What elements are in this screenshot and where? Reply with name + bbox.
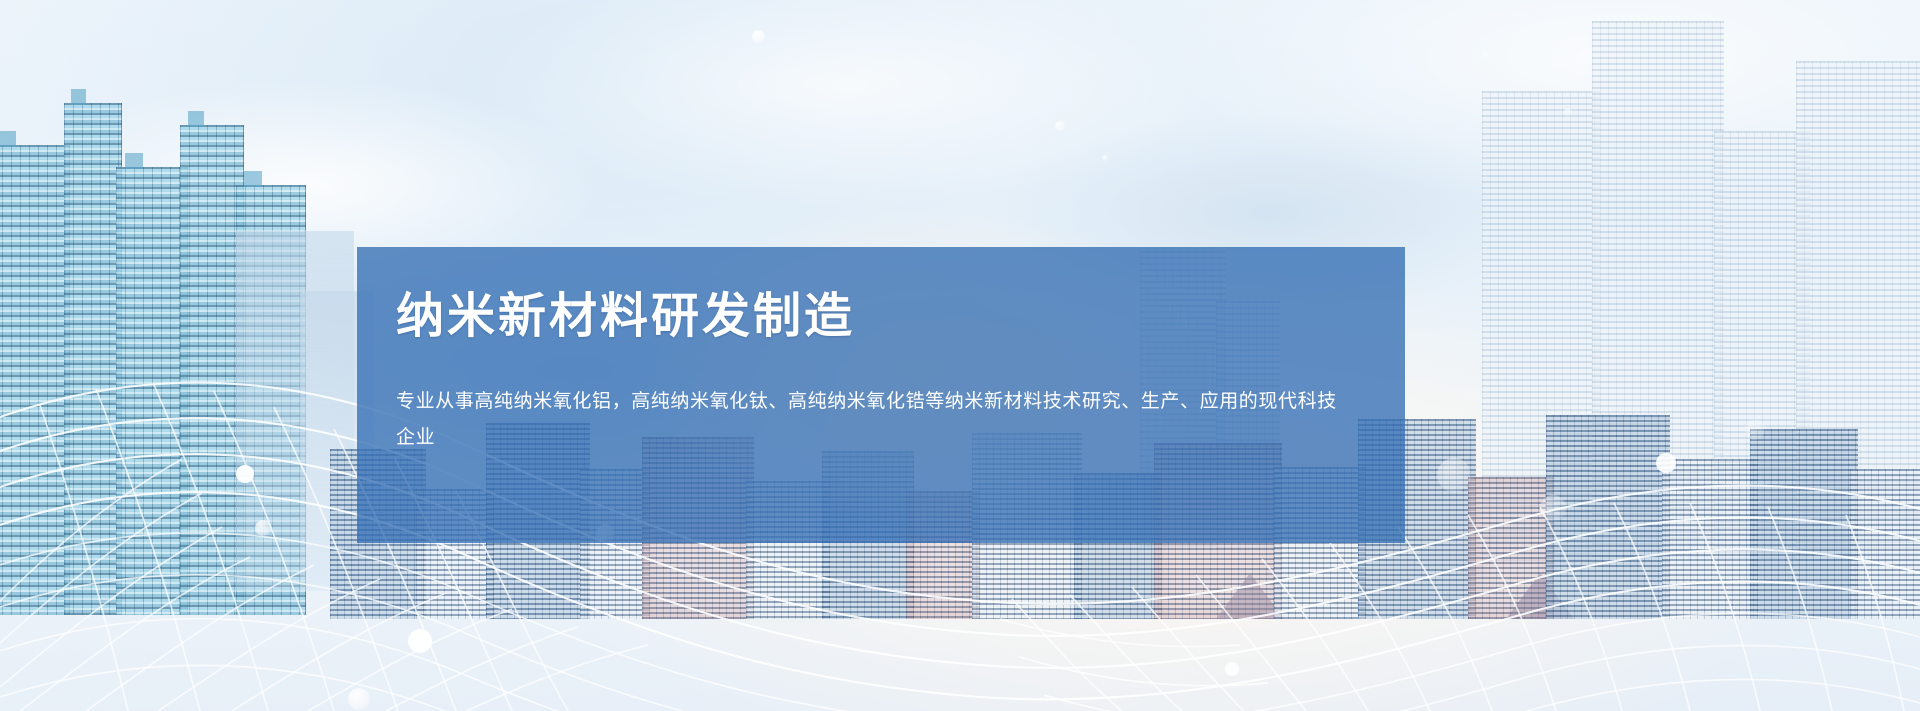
building-block <box>1662 459 1758 619</box>
building-block <box>1850 469 1920 619</box>
building-block <box>1750 429 1858 619</box>
hero-subtitle: 专业从事高纯纳米氧化铝，高纯纳米氧化钛、高纯纳米氧化锆等纳米新材料技术研究、生产… <box>396 384 1351 456</box>
hero-banner: .ln { fill:none; stroke:#ffffff; stroke-… <box>0 0 1920 711</box>
page-title: 纳米新材料研发制造 <box>396 291 1351 344</box>
hero-content-panel: 纳米新材料研发制造 专业从事高纯纳米氧化铝，高纯纳米氧化钛、高纯纳米氧化锆等纳米… <box>357 247 1405 543</box>
building-block <box>1546 415 1670 619</box>
